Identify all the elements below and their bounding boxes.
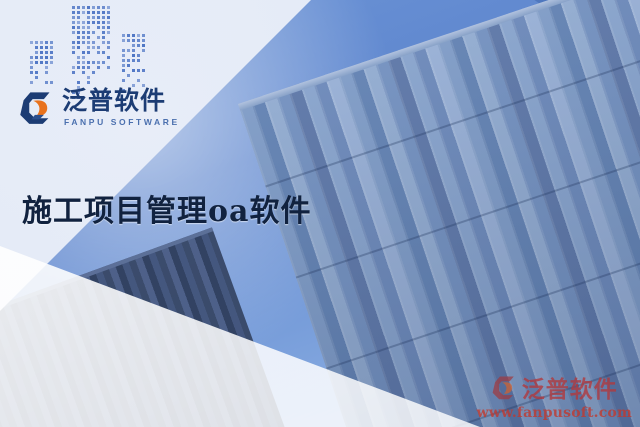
skyline-pixel [82, 51, 85, 54]
skyline-pixel [137, 59, 140, 62]
skyline-pixel [45, 61, 48, 64]
skyline-pixel [72, 26, 75, 29]
skyline-pixel [132, 49, 135, 52]
skyline-pixel [40, 51, 43, 54]
skyline-pixel [87, 36, 90, 39]
skyline-pixel [35, 41, 38, 44]
skyline-pixel [77, 21, 80, 24]
skyline-pixel [77, 41, 80, 44]
brand-name-cn: 泛普软件 [62, 88, 180, 113]
skyline-pixel [50, 51, 53, 54]
skyline-pixel [122, 79, 125, 82]
skyline-pixel [102, 41, 105, 44]
skyline-pixel [45, 41, 48, 44]
skyline-pixel [142, 44, 145, 47]
skyline-pixel [77, 81, 80, 84]
page-title: 施工项目管理oa软件 [22, 186, 311, 230]
skyline-pixel [92, 71, 95, 74]
skyline-pixel [142, 69, 145, 72]
skyline-pixel [50, 41, 53, 44]
skyline-pixel [45, 81, 48, 84]
skyline-pixel [45, 46, 48, 49]
skyline-pixel [77, 26, 80, 29]
skyline-pixel [97, 26, 100, 29]
skyline-pixel [132, 69, 135, 72]
skyline-pixel [127, 59, 130, 62]
skyline-pixel [92, 11, 95, 14]
skyline-pixel [82, 26, 85, 29]
skyline-pixel [127, 64, 130, 67]
skyline-pixel [132, 39, 135, 42]
skyline-pixel [82, 6, 85, 9]
skyline-pixel [127, 39, 130, 42]
skyline-pixel [30, 61, 33, 64]
skyline-pixel [122, 59, 125, 62]
skyline-pixel [40, 56, 43, 59]
skyline-pixel [30, 66, 33, 69]
skyline-pixel [35, 46, 38, 49]
skyline-pixel [40, 41, 43, 44]
skyline-pixel [77, 31, 80, 34]
skyline-pixel [102, 21, 105, 24]
skyline-pixel [142, 49, 145, 52]
skyline-pixel [102, 61, 105, 64]
skyline-pixel [102, 16, 105, 19]
skyline-pixel [30, 56, 33, 59]
skyline-pixel [50, 46, 53, 49]
skyline-pixel [77, 16, 80, 19]
skyline-pixel [97, 21, 100, 24]
watermark-url: www.fanpusoft.com [476, 405, 632, 421]
skyline-pixel [87, 66, 90, 69]
skyline-pixel [50, 61, 53, 64]
skyline-pixel [77, 56, 80, 59]
watermark-fanpu-logo-icon [491, 374, 517, 400]
skyline-pixel [72, 51, 75, 54]
skyline-pixel [122, 34, 125, 37]
skyline-pixel [40, 46, 43, 49]
brand-name-en: FANPU SOFTWARE [62, 118, 180, 127]
skyline-pixel [92, 6, 95, 9]
skyline-pixel [137, 69, 140, 72]
skyline-pixel [137, 54, 140, 57]
skyline-pixel [132, 34, 135, 37]
fanpu-logo-icon [18, 89, 54, 125]
skyline-pixel [45, 51, 48, 54]
skyline-pixel [132, 59, 135, 62]
skyline-pixel [127, 74, 130, 77]
skyline-pixel [92, 46, 95, 49]
skyline-pixel [77, 11, 80, 14]
skyline-pixel [122, 39, 125, 42]
skyline-pixel [72, 16, 75, 19]
brand-text: 泛普软件 FANPU SOFTWARE [62, 88, 180, 127]
skyline-pixel [50, 56, 53, 59]
skyline-pixel [92, 41, 95, 44]
skyline-pixel [102, 31, 105, 34]
skyline-pixel [122, 54, 125, 57]
skyline-pixel [35, 76, 38, 79]
skyline-pixel [45, 56, 48, 59]
skyline-pixel [102, 51, 105, 54]
skyline-pixel [82, 66, 85, 69]
watermark: 泛普软件 www.fanpusoft.com [476, 370, 632, 421]
skyline-pixel [132, 54, 135, 57]
skyline-pixel [92, 16, 95, 19]
skyline-pixel [87, 81, 90, 84]
skyline-pixel [82, 11, 85, 14]
skyline-pixel [107, 56, 110, 59]
skyline-pixel [92, 21, 95, 24]
skyline-pixel [87, 61, 90, 64]
skyline-pixel [97, 16, 100, 19]
brand-lockup: 泛普软件 FANPU SOFTWARE [18, 88, 180, 127]
skyline-pixel [45, 66, 48, 69]
skyline-pixel [92, 61, 95, 64]
skyline-pixel [102, 26, 105, 29]
skyline-pixel [35, 71, 38, 74]
skyline-pixel [107, 16, 110, 19]
skyline-pixel [87, 31, 90, 34]
skyline-pixel [137, 79, 140, 82]
skyline-pixel [87, 46, 90, 49]
skyline-pixel [77, 46, 80, 49]
skyline-pixel [30, 81, 33, 84]
skyline-pixel [50, 81, 53, 84]
marketing-banner: 泛普软件 FANPU SOFTWARE 施工项目管理oa软件 泛普软件 www.… [0, 0, 640, 427]
skyline-pixel [82, 31, 85, 34]
skyline-pixel [132, 44, 135, 47]
skyline-pixel [107, 11, 110, 14]
skyline-pixel [137, 34, 140, 37]
pixel-city-skyline-icon [30, 6, 145, 90]
skyline-pixel [97, 66, 100, 69]
skyline-pixel [82, 36, 85, 39]
skyline-pixel [127, 49, 130, 52]
skyline-pixel [82, 56, 85, 59]
skyline-pixel [137, 44, 140, 47]
skyline-pixel [97, 6, 100, 9]
skyline-pixel [107, 31, 110, 34]
skyline-pixel [35, 56, 38, 59]
skyline-pixel [72, 71, 75, 74]
skyline-pixel [122, 69, 125, 72]
skyline-pixel [87, 76, 90, 79]
skyline-pixel [122, 64, 125, 67]
skyline-pixel [87, 51, 90, 54]
skyline-pixel [97, 51, 100, 54]
skyline-pixel [35, 51, 38, 54]
skyline-pixel [82, 21, 85, 24]
skyline-pixel [107, 66, 110, 69]
skyline-pixel [77, 36, 80, 39]
skyline-pixel [72, 21, 75, 24]
skyline-pixel [77, 6, 80, 9]
skyline-pixel [107, 46, 110, 49]
skyline-pixel [102, 11, 105, 14]
watermark-name-cn: 泛普软件 [522, 370, 618, 404]
skyline-pixel [142, 39, 145, 42]
skyline-pixel [127, 34, 130, 37]
skyline-pixel [45, 71, 48, 74]
skyline-pixel [82, 61, 85, 64]
skyline-pixel [142, 34, 145, 37]
skyline-pixel [77, 61, 80, 64]
skyline-pixel [82, 41, 85, 44]
skyline-pixel [107, 6, 110, 9]
skyline-pixel [122, 49, 125, 52]
skyline-pixel [77, 66, 80, 69]
skyline-pixel [87, 6, 90, 9]
skyline-pixel [87, 26, 90, 29]
skyline-pixel [87, 16, 90, 19]
skyline-pixel [30, 71, 33, 74]
skyline-pixel [107, 26, 110, 29]
skyline-pixel [102, 36, 105, 39]
skyline-pixel [87, 21, 90, 24]
skyline-pixel [35, 61, 38, 64]
skyline-pixel [107, 21, 110, 24]
skyline-pixel [72, 31, 75, 34]
skyline-pixel [97, 61, 100, 64]
skyline-pixel [87, 11, 90, 14]
skyline-pixel [72, 41, 75, 44]
skyline-pixel [72, 11, 75, 14]
skyline-pixel [97, 46, 100, 49]
skyline-pixel [87, 41, 90, 44]
skyline-pixel [107, 41, 110, 44]
skyline-pixel [137, 39, 140, 42]
skyline-pixel [72, 6, 75, 9]
skyline-pixel [82, 71, 85, 74]
skyline-pixel [72, 66, 75, 69]
skyline-pixel [40, 61, 43, 64]
watermark-logo-row: 泛普软件 [476, 370, 632, 404]
skyline-pixel [102, 6, 105, 9]
skyline-pixel [97, 36, 100, 39]
skyline-pixel [30, 41, 33, 44]
skyline-pixel [97, 11, 100, 14]
skyline-pixel [72, 46, 75, 49]
skyline-pixel [92, 31, 95, 34]
